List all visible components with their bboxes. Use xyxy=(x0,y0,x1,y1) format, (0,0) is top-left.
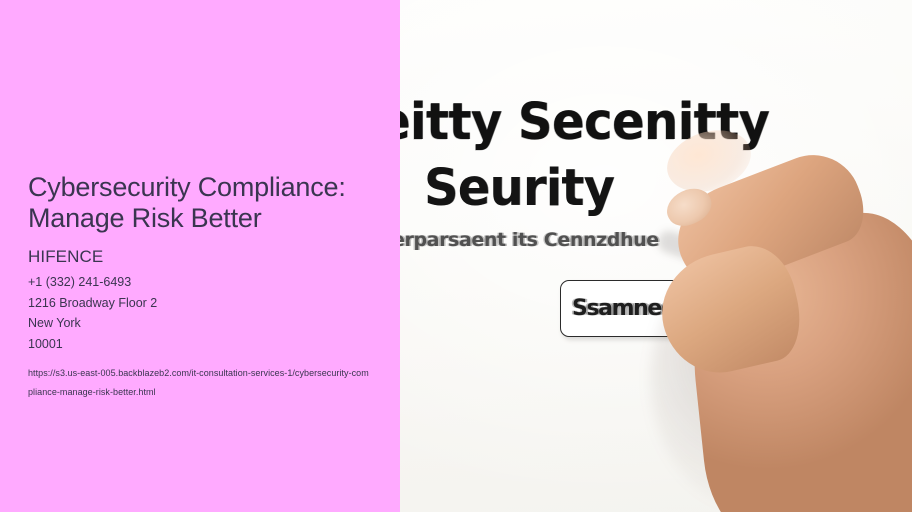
source-url-link[interactable]: https://s3.us-east-005.backblazeb2.com/i… xyxy=(28,364,373,402)
whiteboard-illustration: eitty Secenitty Seurity erparsaent its C… xyxy=(400,0,912,512)
contact-postal-code: 10001 xyxy=(28,334,400,355)
page-title: Cybersecurity Compliance: Manage Risk Be… xyxy=(28,172,400,234)
info-panel: Cybersecurity Compliance: Manage Risk Be… xyxy=(0,0,400,512)
writing-hand-icon xyxy=(666,132,912,512)
contact-phone: +1 (332) 241-6493 xyxy=(28,272,400,293)
contact-city: New York xyxy=(28,313,400,334)
screenshot-root: eitty Secenitty Seurity erparsaent its C… xyxy=(0,0,912,512)
brand-name: HIFENCE xyxy=(28,247,400,267)
contact-address-line: 1216 Broadway Floor 2 xyxy=(28,293,400,314)
info-panel-content: Cybersecurity Compliance: Manage Risk Be… xyxy=(28,172,400,402)
